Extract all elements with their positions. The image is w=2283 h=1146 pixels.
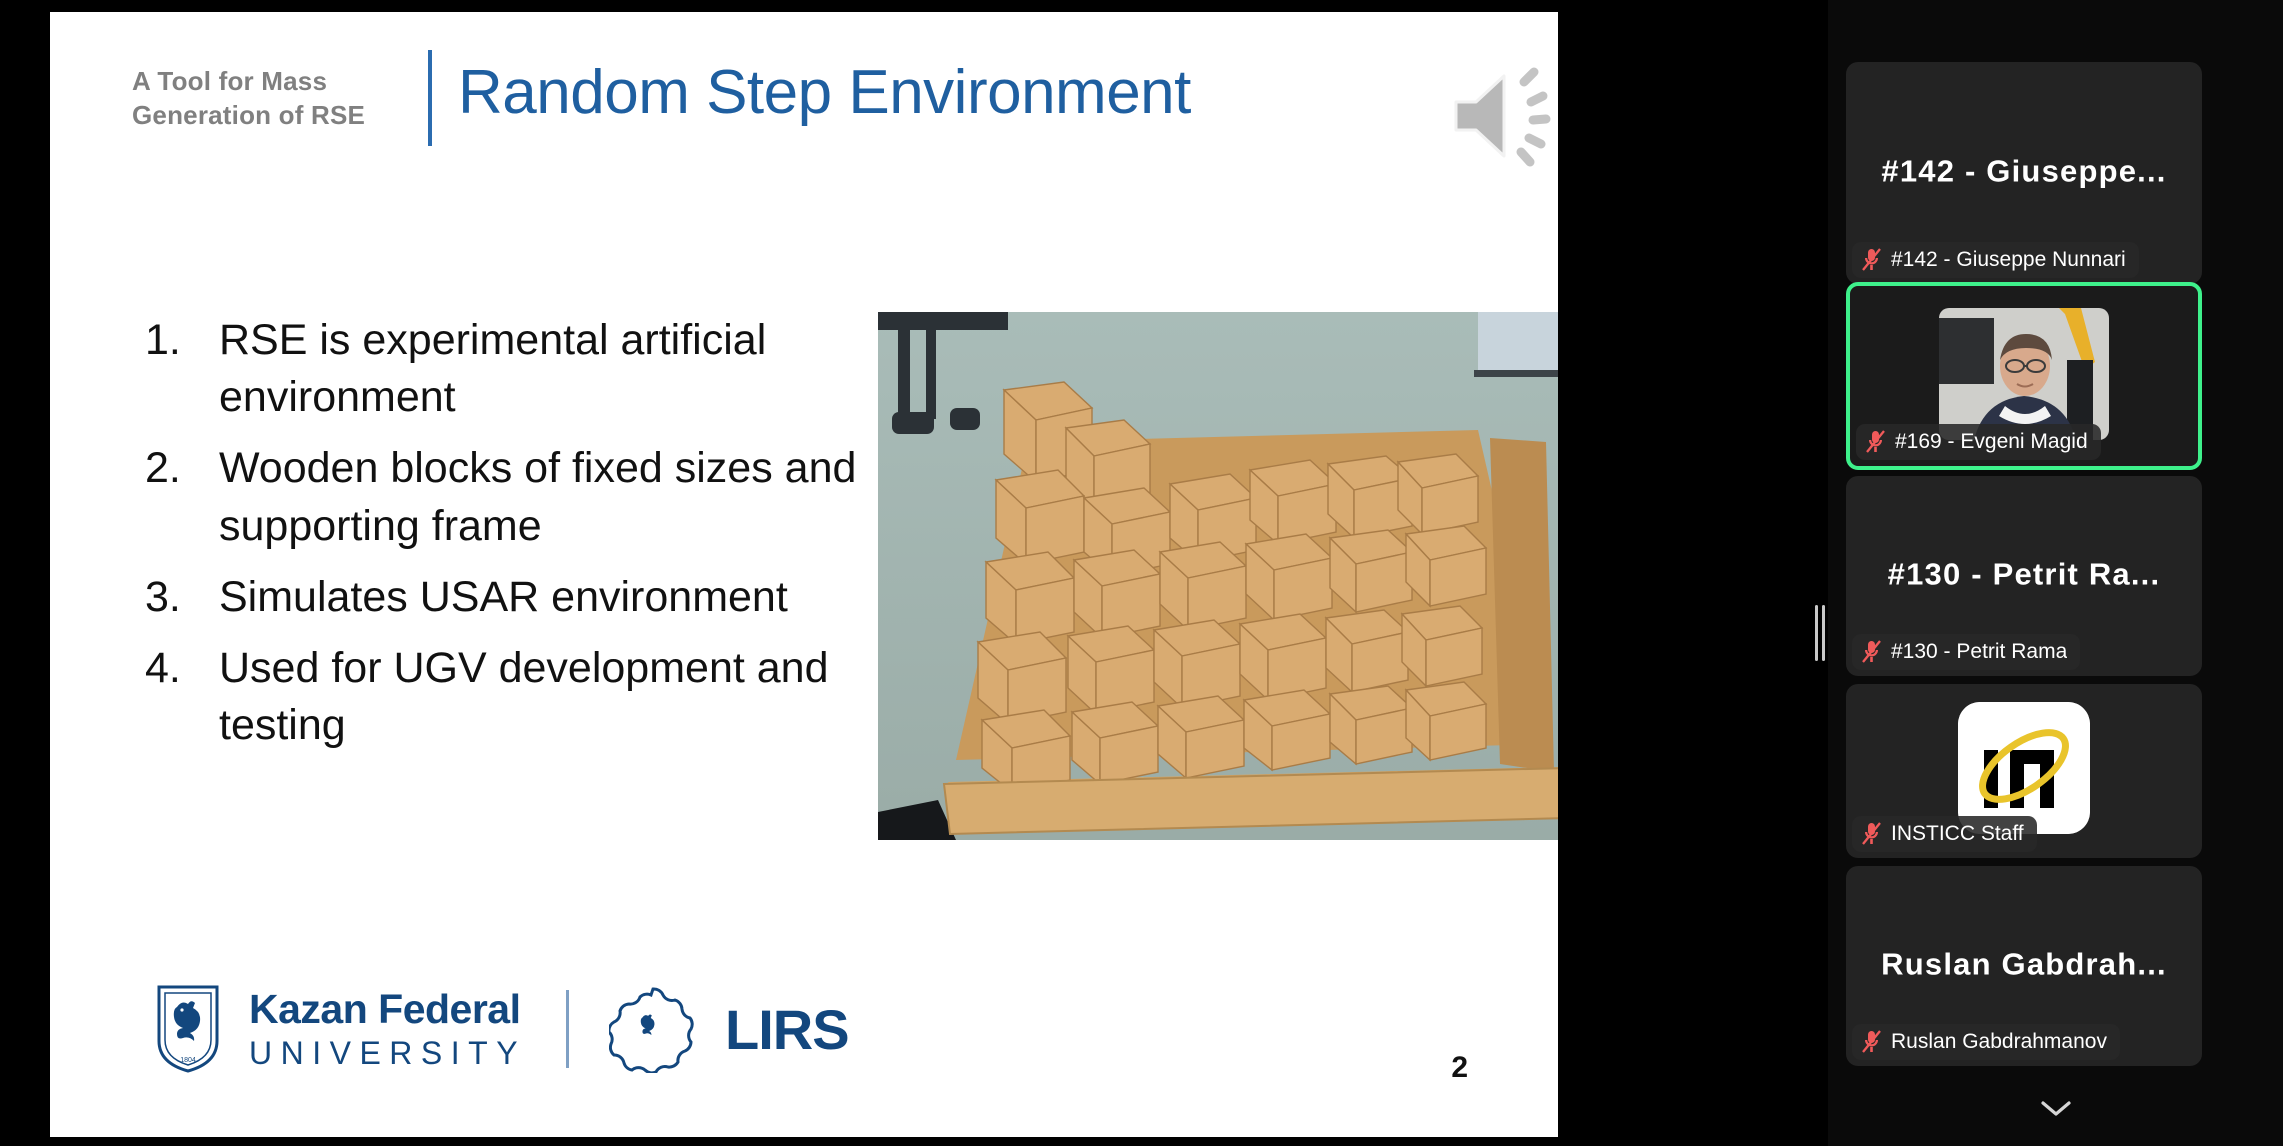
participant-name-chip: #142 - Giuseppe Nunnari xyxy=(1852,242,2139,278)
slide-kicker-line1: A Tool for Mass xyxy=(132,64,432,98)
list-item-number: 4. xyxy=(145,640,219,697)
slide-kicker: A Tool for Mass Generation of RSE xyxy=(132,64,432,133)
participant-video-thumbnail xyxy=(1939,308,2109,440)
participant-name-text: #169 - Evgeni Magid xyxy=(1895,430,2088,454)
participant-name-chip: #169 - Evgeni Magid xyxy=(1856,424,2101,460)
lirs-gear-icon xyxy=(609,985,697,1073)
svg-text:1804: 1804 xyxy=(180,1057,196,1064)
participant-tile[interactable]: Ruslan Gabdrah... Ruslan Gabdrahmanov xyxy=(1846,866,2202,1066)
panel-resize-handle[interactable] xyxy=(1812,605,1828,661)
slide-title: Random Step Environment xyxy=(458,57,1191,128)
meeting-screenshare-window: A Tool for Mass Generation of RSE Random… xyxy=(0,0,2283,1146)
participant-tile[interactable]: #130 - Petrit Ra... #130 - Petrit Rama xyxy=(1846,476,2202,676)
participant-name-text: #142 - Giuseppe Nunnari xyxy=(1891,248,2126,272)
list-item: 2. Wooden blocks of fixed sizes and supp… xyxy=(145,440,865,554)
lirs-wordmark: LIRS xyxy=(725,997,849,1062)
list-item-text: RSE is experimental artificial environme… xyxy=(219,312,865,426)
participant-tile[interactable]: #142 - Giuseppe... #142 - Giuseppe Nunna… xyxy=(1846,62,2202,284)
microphone-off-icon xyxy=(1861,821,1882,846)
shared-screen-stage[interactable]: A Tool for Mass Generation of RSE Random… xyxy=(0,0,1820,1146)
list-item-text: Wooden blocks of fixed sizes and support… xyxy=(219,440,865,554)
list-item: 3. Simulates USAR environment xyxy=(145,569,865,626)
microphone-off-icon xyxy=(1861,639,1882,664)
list-item-number: 3. xyxy=(145,569,219,626)
list-item-number: 1. xyxy=(145,312,219,369)
participant-name-chip: Ruslan Gabdrahmanov xyxy=(1852,1024,2120,1060)
participant-filmstrip[interactable]: #142 - Giuseppe... #142 - Giuseppe Nunna… xyxy=(1828,0,2283,1146)
slide-bullet-list: 1. RSE is experimental artificial enviro… xyxy=(145,312,865,768)
list-item-text: Used for UGV development and testing xyxy=(219,640,865,754)
participant-display-name-large: #130 - Petrit Ra... xyxy=(1846,557,2202,593)
kfu-name-line1: Kazan Federal xyxy=(249,989,526,1030)
slide-kicker-line2: Generation of RSE xyxy=(132,98,432,132)
list-item-number: 2. xyxy=(145,440,219,497)
microphone-off-icon xyxy=(1861,1029,1882,1054)
participant-tile-active-speaker[interactable]: #169 - Evgeni Magid xyxy=(1846,282,2202,470)
participant-display-name-large: Ruslan Gabdrah... xyxy=(1846,947,2202,983)
random-step-environment-photo xyxy=(878,312,1558,840)
participant-name-chip: INSTICC Staff xyxy=(1852,816,2037,852)
participant-name-chip: #130 - Petrit Rama xyxy=(1852,634,2080,670)
microphone-off-icon xyxy=(1865,429,1886,454)
participant-name-text: Ruslan Gabdrahmanov xyxy=(1891,1030,2107,1054)
presentation-slide[interactable]: A Tool for Mass Generation of RSE Random… xyxy=(50,12,1558,1137)
kazan-federal-university-shield-icon: 1804 xyxy=(155,983,221,1075)
footer-logos: 1804 Kazan Federal UNIVERSITY xyxy=(155,983,849,1075)
kazan-federal-university-wordmark: Kazan Federal UNIVERSITY xyxy=(249,989,526,1069)
resize-grip-bar xyxy=(1815,605,1818,661)
list-item: 1. RSE is experimental artificial enviro… xyxy=(145,312,865,426)
list-item-text: Simulates USAR environment xyxy=(219,569,865,626)
participant-name-text: #130 - Petrit Rama xyxy=(1891,640,2067,664)
participant-tile[interactable]: INSTICC Staff xyxy=(1846,684,2202,858)
resize-grip-bar xyxy=(1822,605,1825,661)
speaker-sound-icon xyxy=(1442,60,1558,172)
title-divider-rule xyxy=(428,50,432,146)
chevron-down-icon[interactable] xyxy=(1991,1084,2121,1132)
kfu-name-line2: UNIVERSITY xyxy=(249,1037,526,1069)
slide-page-number: 2 xyxy=(1451,1051,1468,1085)
insticc-logo-avatar xyxy=(1958,702,2090,834)
participant-display-name-large: #142 - Giuseppe... xyxy=(1846,154,2202,190)
list-item: 4. Used for UGV development and testing xyxy=(145,640,865,754)
footer-logo-divider xyxy=(566,990,569,1068)
participant-name-text: INSTICC Staff xyxy=(1891,822,2024,846)
slide-header: A Tool for Mass Generation of RSE Random… xyxy=(50,12,1558,182)
microphone-off-icon xyxy=(1861,247,1882,272)
